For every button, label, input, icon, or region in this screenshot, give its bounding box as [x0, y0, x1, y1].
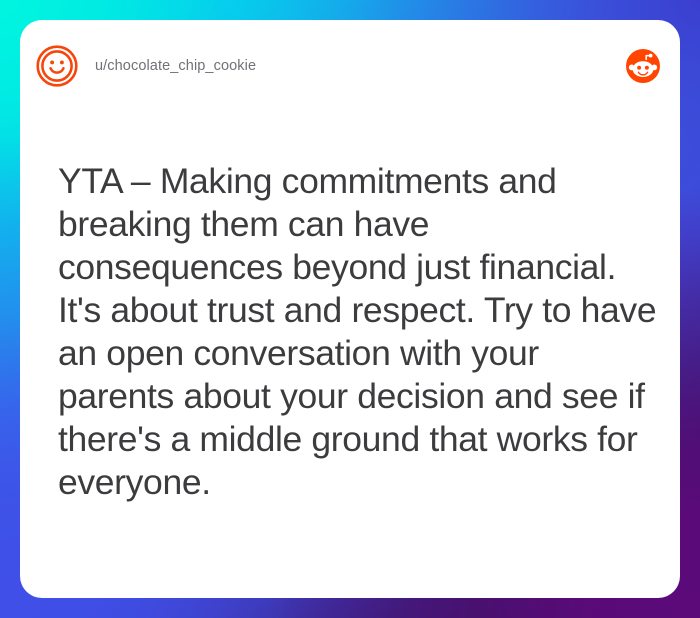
post-username[interactable]: u/chocolate_chip_cookie	[95, 58, 256, 74]
reddit-snoo-logo-icon[interactable]	[626, 49, 660, 83]
smiley-face-avatar-icon[interactable]	[36, 45, 78, 87]
post-body-text: YTA – Making commitments and breaking th…	[58, 160, 658, 504]
post-header: u/chocolate_chip_cookie	[20, 20, 680, 112]
post-card: u/chocolate_chip_cookie YTA –	[20, 20, 680, 598]
